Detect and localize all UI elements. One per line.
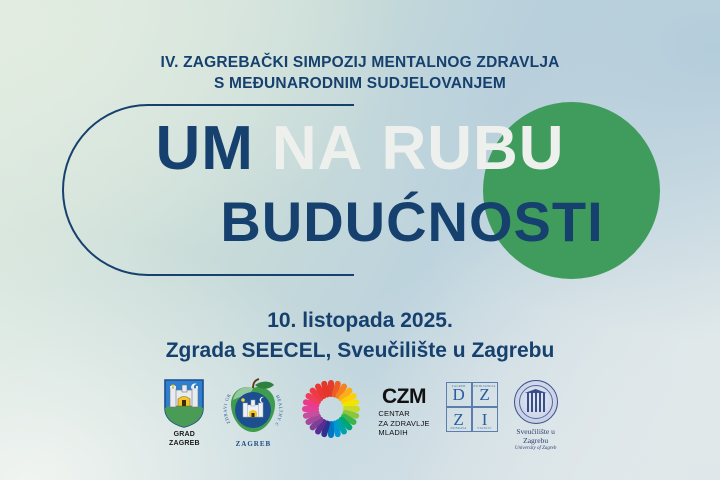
dzzi-tiny-bot-right: STANCIĆ (477, 426, 492, 430)
logo-grad-zagreb: GRAD ZAGREB (162, 378, 206, 448)
dzzi-cell-z2: Z DUBRAVA (446, 407, 472, 432)
zdravi-grad-caption: ZAGREB (236, 440, 272, 448)
grad-zagreb-caption-2: ZAGREB (169, 440, 200, 447)
dzzi-tiny-bot-left: DUBRAVA (451, 426, 467, 430)
symposium-header: IV. ZAGREBAČKI SIMPOZIJ MENTALNOG ZDRAVL… (0, 52, 720, 94)
logo-university-of-zagreb: Sveučilište u Zagrebu University of Zagr… (514, 378, 558, 451)
university-caption-1: Sveučilište u (516, 427, 555, 436)
logo-rainbow-wheel (300, 378, 362, 440)
navy-outline-rounded-shape (62, 104, 352, 276)
logo-caption: ZAGREB (236, 440, 272, 448)
grad-zagreb-caption-1: GRAD (174, 431, 195, 438)
rainbow-wheel-icon (300, 378, 362, 440)
green-circle-decoration (483, 102, 660, 279)
zdravi-grad-apple-icon: ZDRAVI GRAD HEALTHY CITY (222, 378, 284, 438)
event-venue: Zgrada SEECEL, Sveučilište u Zagrebu (0, 336, 720, 366)
logo-zdravi-grad-zagreb: ZDRAVI GRAD HEALTHY CITY ZAGREB (222, 378, 284, 448)
czm-subtitle: CENTAR ZA ZDRAVLJE MLADIH (378, 409, 429, 438)
university-seal-icon (514, 380, 558, 424)
logo-caption: GRAD ZAGREB (169, 430, 200, 448)
poster-canvas: IV. ZAGREBAČKI SIMPOZIJ MENTALNOG ZDRAVL… (0, 0, 720, 480)
dzzi-tiny-top-left: ZAGREB (452, 384, 466, 388)
university-caption-en: University of Zagreb (515, 446, 556, 451)
logo-dzzi: ZAGREB D PSIHIJATRIJA Z Z DUBRAVA I STAN… (446, 378, 498, 432)
zdravi-ring-left: ZDRAVI GRAD (222, 378, 232, 425)
dzzi-cell-d: ZAGREB D (446, 382, 472, 407)
dzzi-tiny-top-right: PSIHIJATRIJA (473, 384, 495, 388)
dzzi-cell-i: I STANCIĆ (472, 407, 498, 432)
sponsor-logo-row: GRAD ZAGREB (0, 378, 720, 460)
event-date: 10. listopada 2025. (0, 306, 720, 336)
event-details: 10. listopada 2025. Zgrada SEECEL, Sveuč… (0, 306, 720, 366)
grad-zagreb-shield-icon (162, 378, 206, 428)
header-line-2: S MEĐUNARODNIM SUDJELOVANJEM (0, 73, 720, 94)
university-building-glyph (527, 393, 545, 412)
czm-wordmark: CZM (382, 386, 426, 407)
header-line-1: IV. ZAGREBAČKI SIMPOZIJ MENTALNOG ZDRAVL… (0, 52, 720, 73)
logo-czm: CZM CENTAR ZA ZDRAVLJE MLADIH (378, 378, 429, 438)
svg-text:ZDRAVI GRAD: ZDRAVI GRAD (222, 378, 232, 425)
university-caption: Sveučilište u Zagrebu (516, 427, 555, 445)
dzzi-cell-z1: PSIHIJATRIJA Z (472, 382, 498, 407)
university-caption-2: Zagrebu (523, 436, 548, 445)
dzzi-letter-grid: ZAGREB D PSIHIJATRIJA Z Z DUBRAVA I STAN… (446, 382, 498, 432)
